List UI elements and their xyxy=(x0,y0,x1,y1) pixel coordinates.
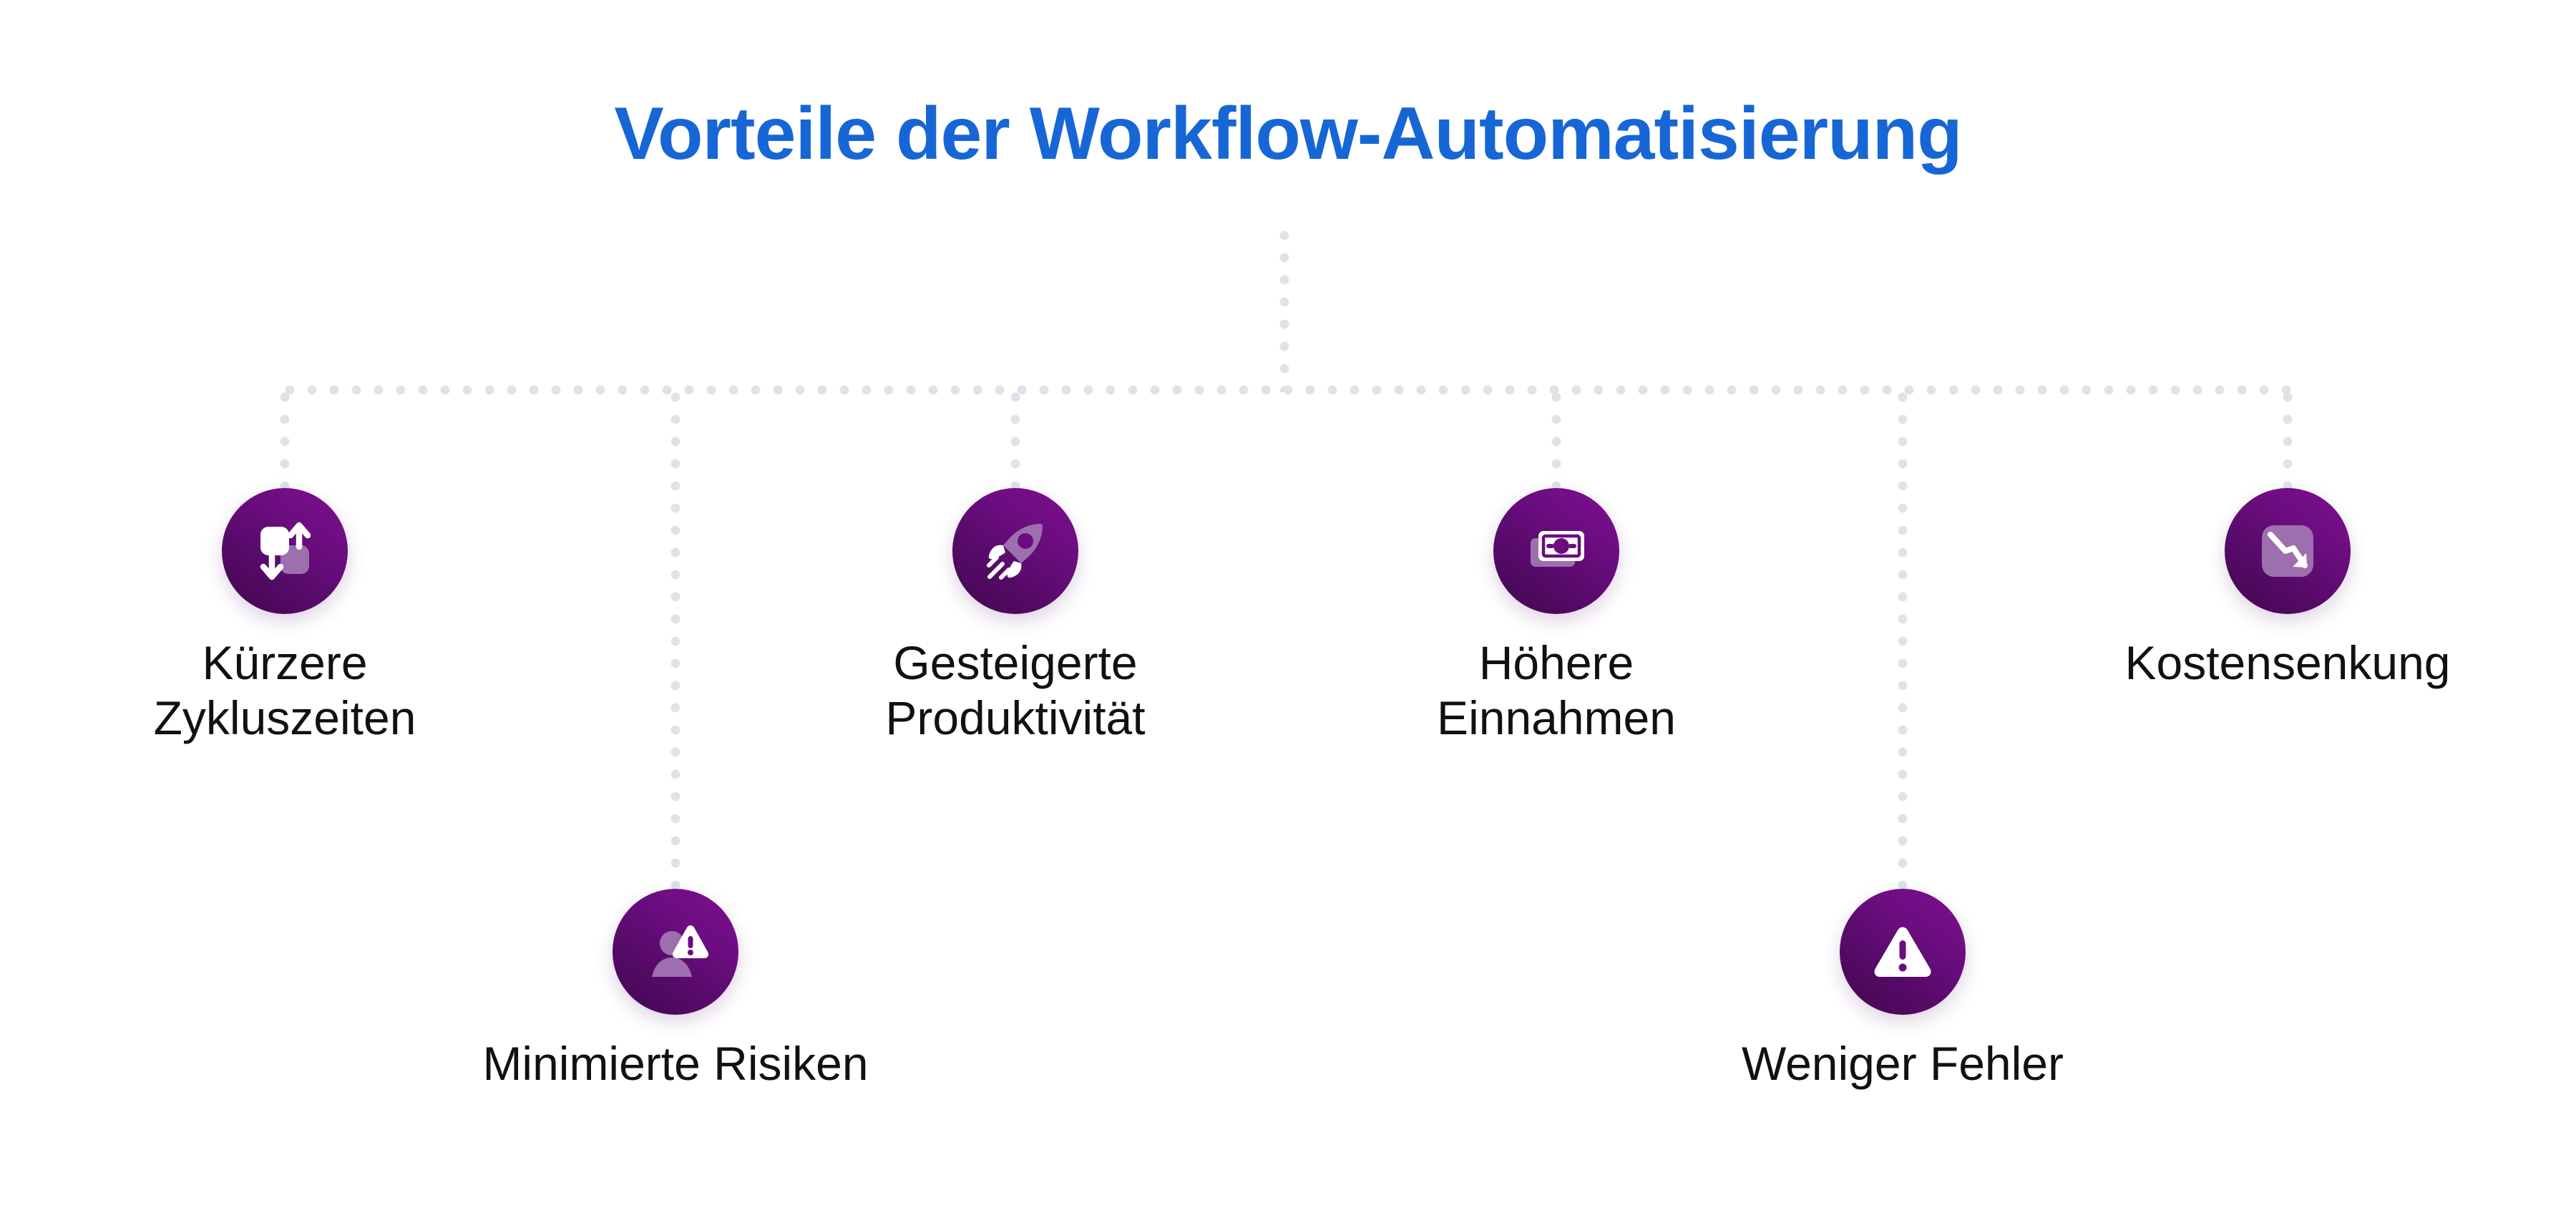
connector-drop-kuerzere-zykluszeiten xyxy=(280,392,290,492)
user-warning-icon xyxy=(640,916,711,988)
rocket-icon xyxy=(980,515,1051,587)
node-label-gesteigerte-produktivitaet: Gesteigerte Produktivität xyxy=(794,635,1237,745)
connector-drop-kostensenkung xyxy=(2283,392,2293,492)
icon-circle-minimierte-risiken[interactable] xyxy=(613,889,738,1015)
node-kuerzere-zykluszeiten[interactable]: Kürzere Zykluszeiten xyxy=(63,488,507,745)
node-minimierte-risiken[interactable]: Minimierte Risiken xyxy=(454,889,897,1091)
node-weniger-fehler[interactable]: Weniger Fehler xyxy=(1681,889,2124,1091)
connector-drop-hoehere-einnahmen xyxy=(1551,392,1561,492)
icon-circle-kostensenkung[interactable] xyxy=(2225,488,2351,614)
node-kostensenkung[interactable]: Kostensenkung xyxy=(2066,488,2509,691)
infographic-canvas: Vorteile der Workflow-Automatisierung Kü… xyxy=(0,0,2576,1213)
connector-horizontal-rail xyxy=(285,385,2293,395)
icon-circle-kuerzere-zykluszeiten[interactable] xyxy=(222,488,348,614)
declining-chart-icon xyxy=(2252,515,2323,587)
node-label-kuerzere-zykluszeiten: Kürzere Zykluszeiten xyxy=(63,635,507,745)
node-gesteigerte-produktivitaet[interactable]: Gesteigerte Produktivität xyxy=(794,488,1237,745)
page-title: Vorteile der Workflow-Automatisierung xyxy=(0,93,2576,175)
icon-circle-weniger-fehler[interactable] xyxy=(1840,889,1966,1015)
connector-drop-gesteigerte-produktivitaet xyxy=(1010,392,1020,492)
connector-center-stem xyxy=(1279,230,1289,392)
warning-triangle-icon xyxy=(1867,916,1938,988)
connector-drop-weniger-fehler xyxy=(1898,392,1908,893)
node-label-kostensenkung: Kostensenkung xyxy=(2066,635,2509,691)
node-label-minimierte-risiken: Minimierte Risiken xyxy=(454,1036,897,1091)
icon-circle-hoehere-einnahmen[interactable] xyxy=(1493,488,1619,614)
connector-drop-minimierte-risiken xyxy=(670,392,680,893)
node-label-hoehere-einnahmen: Höhere Einnahmen xyxy=(1335,635,1778,745)
node-label-weniger-fehler: Weniger Fehler xyxy=(1681,1036,2124,1091)
node-hoehere-einnahmen[interactable]: Höhere Einnahmen xyxy=(1335,488,1778,745)
icon-circle-gesteigerte-produktivitaet[interactable] xyxy=(952,488,1078,614)
transfer-arrows-icon xyxy=(249,515,321,587)
banknote-icon xyxy=(1521,515,1592,587)
